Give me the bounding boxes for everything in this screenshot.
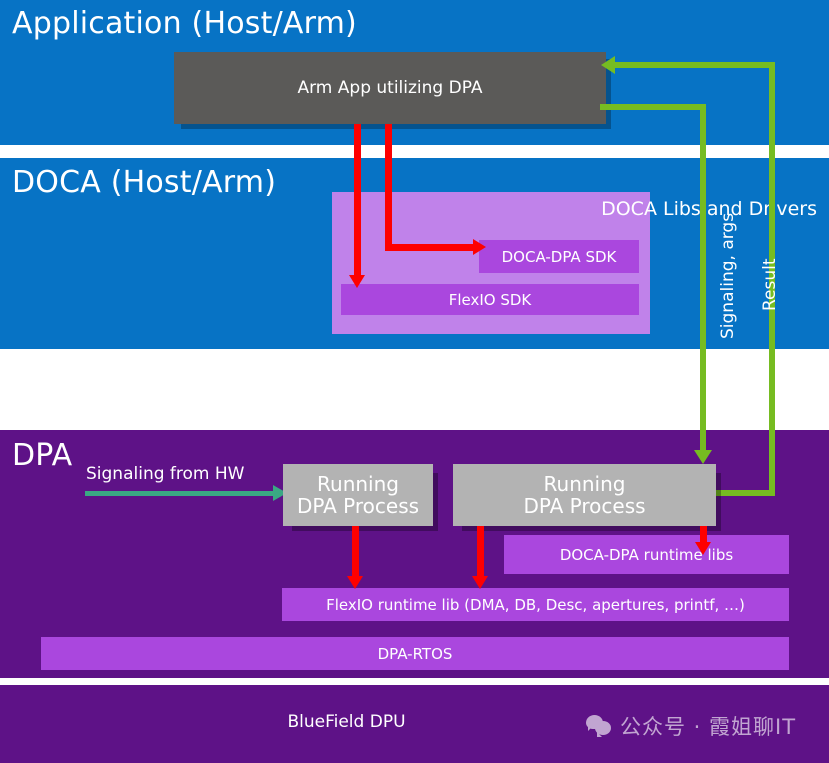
green-arrow-result-shaft-h-top: [613, 62, 775, 68]
dpa-process-box-2: Running DPA Process: [453, 464, 716, 526]
wechat-icon: [586, 715, 612, 737]
dpa-process-1-line2: DPA Process: [297, 495, 419, 517]
green-arrow-result-label: Result: [760, 258, 780, 311]
diagram-canvas: Application (Host/Arm) DOCA (Host/Arm) D…: [0, 0, 829, 763]
red-arrow-proc2-to-flexio-runtime-shaft: [477, 526, 484, 578]
dpa-rtos-box: DPA-RTOS: [41, 637, 789, 670]
green-arrow-signaling-args-shaft-v: [700, 104, 706, 452]
watermark-text: 公众号 · 霞姐聊IT: [620, 711, 796, 741]
watermark: 公众号 · 霞姐聊IT: [586, 711, 796, 741]
red-arrow-proc2-to-flexio-runtime-head: [472, 576, 488, 589]
flexio-sdk-box: FlexIO SDK: [341, 284, 639, 315]
doca-dpa-runtime-libs-box: DOCA-DPA runtime libs: [504, 535, 789, 574]
flexio-runtime-lib-box: FlexIO runtime lib (DMA, DB, Desc, apert…: [282, 588, 789, 621]
dpa-process-1-line1: Running: [297, 473, 419, 495]
red-arrow-to-doca-dpa-sdk-head: [473, 239, 486, 255]
dpa-process-box-1: Running DPA Process: [283, 464, 433, 526]
teal-arrow-signaling-from-hw-label: Signaling from HW: [86, 464, 244, 484]
green-arrow-signaling-args-head: [694, 450, 712, 464]
green-arrow-result-shaft-h-bottom: [711, 490, 775, 496]
band-doca-title: DOCA (Host/Arm): [12, 165, 276, 200]
red-arrow-proc1-to-flexio-runtime-shaft: [352, 526, 359, 578]
red-arrow-to-doca-dpa-sdk-shaft-h: [385, 244, 475, 251]
dpa-process-2-line2: DPA Process: [523, 495, 645, 517]
band-dpa-title: DPA: [12, 438, 72, 473]
green-arrow-result-head: [601, 56, 615, 74]
red-arrow-proc1-to-flexio-runtime-head: [347, 576, 363, 589]
red-arrow-to-flexio-sdk-head: [349, 275, 365, 288]
red-arrow-to-doca-dpa-sdk-shaft-v: [385, 124, 392, 251]
dpa-process-2-line1: Running: [523, 473, 645, 495]
red-arrow-proc2-to-doca-dpa-runtime-head: [695, 542, 711, 555]
bluefield-dpu-text: BlueField DPU: [287, 712, 405, 732]
green-arrow-signaling-args-shaft-h: [600, 104, 706, 110]
arm-app-box: Arm App utilizing DPA: [174, 52, 606, 124]
red-arrow-to-flexio-sdk-shaft: [354, 124, 361, 277]
doca-dpa-sdk-box: DOCA-DPA SDK: [479, 240, 639, 273]
band-application-title: Application (Host/Arm): [12, 6, 357, 41]
teal-arrow-signaling-from-hw-shaft: [85, 491, 275, 496]
green-arrow-signaling-args-label: Signaling, args: [718, 213, 738, 339]
